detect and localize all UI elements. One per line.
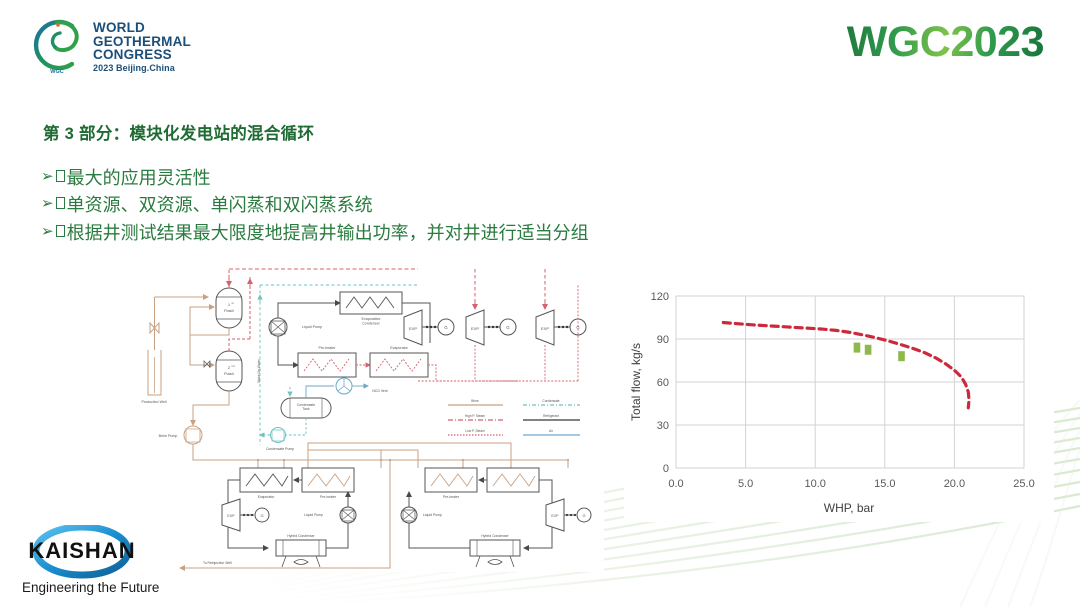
y-tick: 90 [657,334,669,346]
logo-line-congress: CONGRESS [93,48,191,62]
label-liquid-pump-top: Liquid Pump [302,325,322,329]
label-to-reinjection-well: To Reinjection Well [203,561,232,565]
expander-unit-2: EXP G [466,269,516,381]
wgc2023-wordmark: WGC2023 [847,18,1044,67]
label-evaporative-condenser: EvaporativeCondenser [362,317,381,325]
list-item: ➢ 根据井测试结果最大限度地提高井输出功率，并对井进行适当分组 [41,220,589,247]
chart-y-axis-label: Total flow, kg/s [629,343,643,421]
bullet-text: 最大的应用灵活性 [67,165,211,192]
bullet-list: ➢ 最大的应用灵活性 ➢ 单资源、双资源、单闪蒸和双闪蒸系统 ➢ 根据井测试结果… [41,165,589,247]
bullet-tofu-glyph [56,225,65,237]
x-tick: 15.0 [874,478,895,490]
label-expander-3: EXP [541,326,549,331]
legend-label-refrigerant: Refrigerant [543,414,559,418]
kaishan-wordmark: KAISHAN [28,538,135,563]
list-item: ➢ 最大的应用灵活性 [41,165,589,192]
legend-label-air: Air [549,429,554,433]
bullet-arrow-icon: ➢ [41,192,54,216]
x-tick: 25.0 [1013,478,1034,490]
label-ncg-vent: NCG Vent [372,389,387,393]
label-pre-heater-left: Pre-heater [320,495,337,499]
chart-data-point [865,345,872,355]
label-hybrid-condenser-right: Hybrid Condenser [481,534,509,538]
label-brine-pump: Brine Pump [159,434,178,438]
production-well: Production Well [141,297,208,404]
bullet-tofu-glyph [56,170,65,182]
label-hybrid-condenser-left: Hybrid Condenser [287,534,315,538]
orc-module-left: Evaporator Pre-heater EXP G Liquid Pump … [222,468,356,567]
logo-line-world: WORLD [93,21,191,35]
legend-label-condensate: Condensate [542,399,559,403]
label-generator-right: G [582,513,585,518]
y-tick: 30 [657,420,669,432]
kaishan-logo: KAISHAN Engineering the Future [16,525,176,599]
chart-data-point [898,351,905,361]
bullet-tofu-glyph [56,197,65,209]
label-expander-2: EXP [471,326,479,331]
brine-pump: Brine Pump [159,391,258,460]
diagram-legend: Brine High P. Steam Low P. Steam Condens… [448,399,580,435]
pre-heater-top: Pre-heater [298,346,370,377]
wgc-spiral-pagoda-icon: WGC [27,16,87,78]
legend-label-brine: Brine [471,399,479,403]
legend-label-high-p-steam: High P. Steam [465,414,485,418]
label-pre-heater-top: Pre-heater [319,346,337,350]
label-make-up-water: Make Up Water [257,358,261,382]
kaishan-tagline: Engineering the Future [22,580,159,595]
evaporator-top: Evaporator [370,346,518,381]
condensate-pump: Condensate Pump [260,418,306,451]
label-expander-1: EXP [409,326,417,331]
label-pre-heater-right: Pre-heater [443,495,460,499]
y-tick: 120 [651,291,669,303]
page-title: 第 3 部分：模块化发电站的混合循环 [43,120,314,144]
wgc-congress-logo: WGC WORLD GEOTHERMAL CONGRESS 2023 Beiji… [27,12,177,82]
svg-text:Flash: Flash [224,308,234,313]
label-expander-left: EXP [227,514,235,518]
x-tick: 5.0 [738,478,753,490]
label-evaporator-left: Evaporator [258,495,275,499]
y-tick: 60 [657,377,669,389]
label-liquid-pump-right: Liquid Pump [423,513,442,517]
label-generator-1: G [444,325,447,330]
chart-x-ticks: 0.0 5.0 10.0 15.0 20.0 25.0 [668,478,1034,490]
logo-line-location: 2023 Beijing.China [93,64,191,73]
label-evaporator-top: Evaporator [390,346,408,350]
svg-text:st: st [231,301,233,305]
svg-text:Flash: Flash [224,371,234,376]
chart-x-axis-label: WHP, bar [824,501,874,515]
legend-label-low-p-steam: Low P. Steam [465,429,485,433]
bullet-arrow-icon: ➢ [41,165,54,189]
logo-line-geothermal: GEOTHERMAL [93,35,191,49]
label-generator-left: G [260,513,263,518]
x-tick: 20.0 [944,478,965,490]
process-flow-diagram: Production Well 1st Flash 2nd Flash Brin… [118,255,604,572]
label-production-well: Production Well [141,400,166,404]
deliverability-chart: 120 90 60 30 0 0.0 5.0 10.0 15.0 20.0 25… [624,282,1054,522]
ncg-vent: NCG Vent [306,378,388,398]
label-expander-right: EXP [551,514,559,518]
bullet-text: 单资源、双资源、单闪蒸和双闪蒸系统 [67,192,373,219]
svg-text:WGC: WGC [50,69,63,75]
brine-header-bottom [258,443,568,468]
x-tick: 10.0 [804,478,825,490]
slide-header: WGC WORLD GEOTHERMAL CONGRESS 2023 Beiji… [0,0,1080,100]
bullet-text: 根据井测试结果最大限度地提高井输出功率，并对井进行适当分组 [67,220,589,247]
y-tick: 0 [663,463,669,475]
x-tick: 0.0 [668,478,683,490]
list-item: ➢ 单资源、双资源、单闪蒸和双闪蒸系统 [41,192,589,219]
label-condensate-pump: Condensate Pump [266,447,294,451]
label-generator-2: G [506,325,509,330]
label-liquid-pump-left: Liquid Pump [304,513,323,517]
chart-y-ticks: 120 90 60 30 0 [651,291,669,475]
bullet-arrow-icon: ➢ [41,220,54,244]
expander-unit-1: EXP G [404,310,454,345]
chart-data-point [854,343,861,353]
orc-module-right: Pre-heater EXP G Liquid Pump Hybrid Cond… [401,468,591,567]
